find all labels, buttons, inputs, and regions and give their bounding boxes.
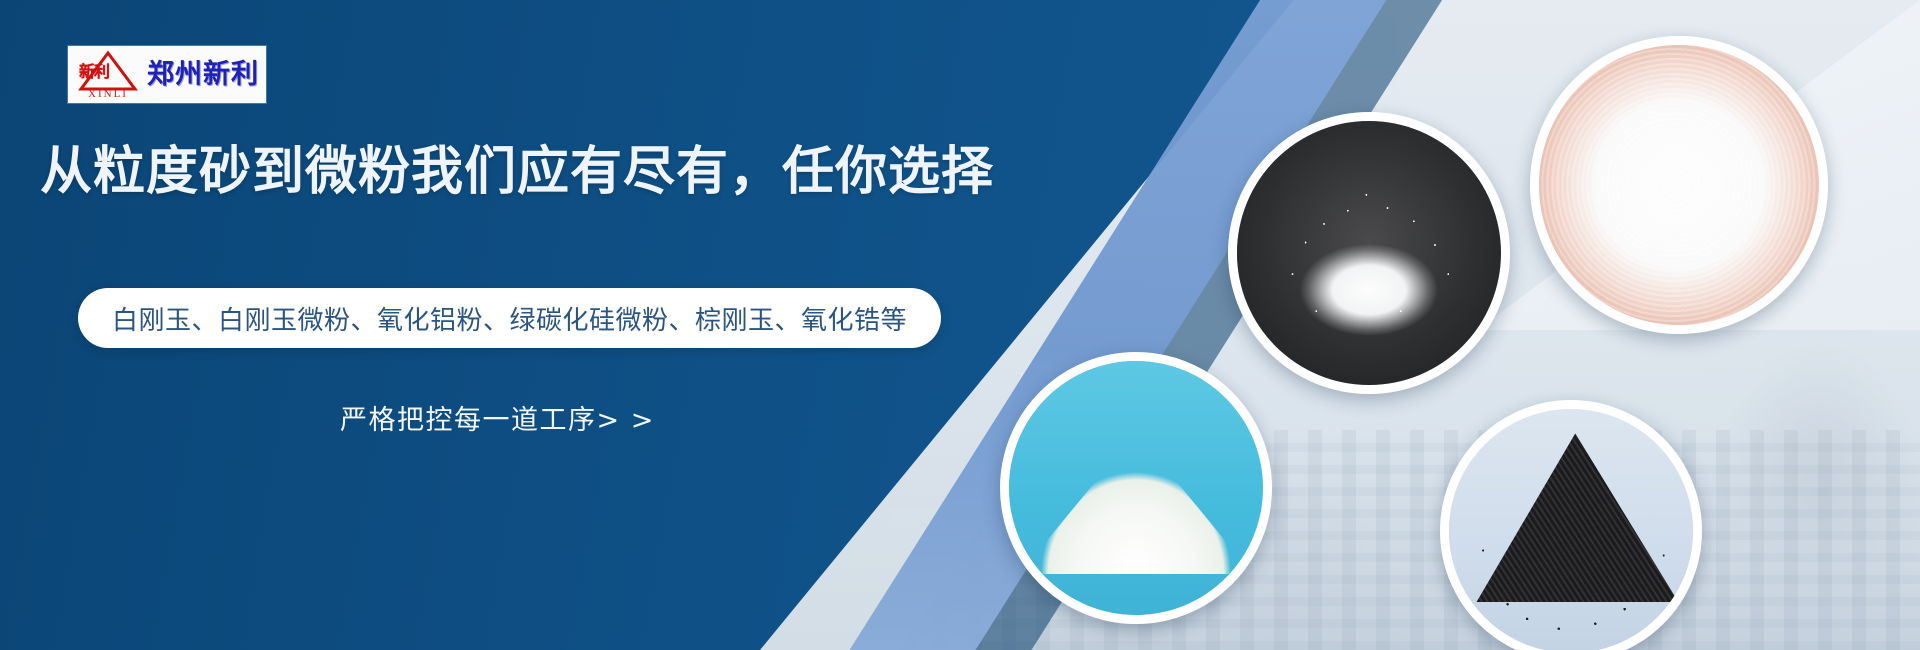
product-photo-white-fused-alumina-image: [1237, 121, 1501, 385]
product-list-text: 白刚玉、白刚玉微粉、氧化铝粉、绿碳化硅微粉、棕刚玉、氧化锆等: [112, 300, 907, 337]
logo-mark-text: 新利: [79, 64, 109, 80]
product-photo-zirconia-powder-image: [1009, 361, 1263, 615]
process-tagline-link[interactable]: 严格把控每一道工序> >: [340, 398, 655, 437]
product-photo-zirconia-powder[interactable]: [1000, 352, 1272, 624]
product-photo-white-fused-alumina[interactable]: [1228, 112, 1510, 394]
product-photo-alumina-powder-image: [1539, 45, 1819, 325]
product-list-pill[interactable]: 白刚玉、白刚玉微粉、氧化铝粉、绿碳化硅微粉、棕刚玉、氧化锆等: [78, 288, 941, 348]
product-photo-black-silicon-carbide-image: [1449, 409, 1693, 650]
company-logo[interactable]: 新利 XINLI 郑州新利: [68, 46, 266, 103]
logo-triangle-mark: 新利 XINLI: [75, 48, 141, 101]
product-photo-alumina-powder[interactable]: [1530, 36, 1828, 334]
logo-pinyin-text: XINLI: [78, 89, 138, 100]
promo-banner: 新利 XINLI 郑州新利 从粒度砂到微粉我们应有尽有，任你选择 白刚玉、白刚玉…: [0, 0, 1920, 650]
product-photo-black-silicon-carbide[interactable]: [1440, 400, 1702, 650]
logo-company-name: 郑州新利: [147, 61, 259, 88]
banner-headline: 从粒度砂到微粉我们应有尽有，任你选择: [40, 143, 994, 203]
